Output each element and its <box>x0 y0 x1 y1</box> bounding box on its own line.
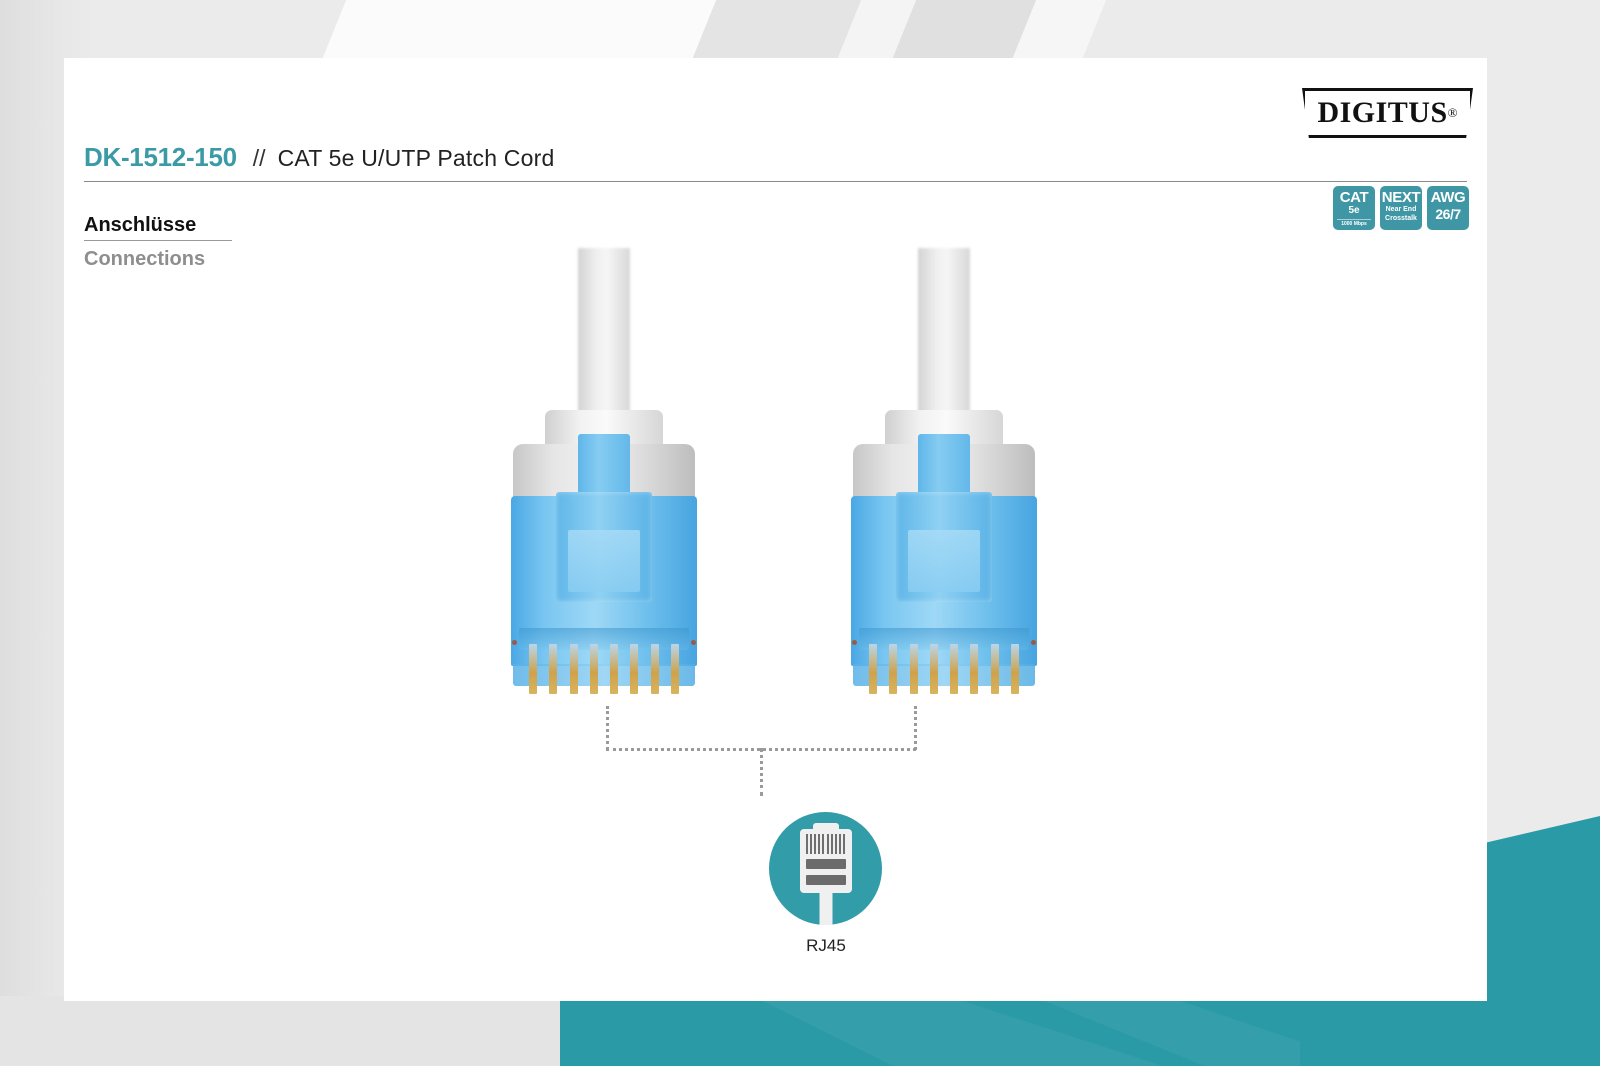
connector-notch-left <box>470 548 496 592</box>
rj45-connector-right <box>794 248 1094 728</box>
product-photo <box>394 248 1154 728</box>
next-badge-line2: Crosstalk <box>1385 215 1417 223</box>
rj45-cord-icon <box>819 891 832 925</box>
cat-badge-speed: 1000 Mbps <box>1337 219 1371 227</box>
connector-marker-left <box>512 640 517 645</box>
rj45-connector-left <box>454 248 754 728</box>
connector-marker-right <box>1031 640 1036 645</box>
awg-badge-main: AWG <box>1431 190 1466 205</box>
connector-notch-right <box>712 548 738 592</box>
next-badge-line1: Near End <box>1386 206 1417 214</box>
section-title-de: Anschlüsse <box>84 214 232 241</box>
product-title-row: DK-1512-150 // CAT 5e U/UTP Patch Cord <box>84 142 1467 182</box>
cable-jacket <box>918 248 970 428</box>
connector-notch-left <box>810 548 836 592</box>
leader-line-right-vertical <box>914 706 917 750</box>
rj45-bar-lower-icon <box>806 875 846 885</box>
title-separator: // <box>253 145 266 172</box>
cable-jacket <box>578 248 630 428</box>
product-name: CAT 5e U/UTP Patch Cord <box>278 145 555 172</box>
next-badge-main: NEXT <box>1382 190 1420 205</box>
section-title-en: Connections <box>84 248 232 271</box>
section-heading: Anschlüsse Connections <box>84 214 232 271</box>
connector-marker-left <box>852 640 857 645</box>
gold-pins <box>529 644 679 694</box>
connector-window <box>908 530 980 592</box>
rj45-contacts-icon <box>806 834 846 854</box>
registered-mark-icon: ® <box>1448 105 1458 121</box>
awg-badge: AWG 26/7 <box>1427 186 1469 230</box>
connector-marker-right <box>691 640 696 645</box>
cat-badge: CAT 5e 1000 Mbps <box>1333 186 1375 230</box>
cat-badge-sub: 5e <box>1348 206 1359 216</box>
rj45-label: RJ45 <box>704 936 948 956</box>
rj45-bar-upper-icon <box>806 859 846 869</box>
callout-leader-lines <box>394 698 1154 828</box>
cat-badge-main: CAT <box>1340 190 1369 205</box>
gold-pins <box>869 644 1019 694</box>
digitus-logo: DIGITUS® <box>1302 88 1473 138</box>
connector-notch-right <box>1052 548 1078 592</box>
connector-window <box>568 530 640 592</box>
product-sku: DK-1512-150 <box>84 142 237 173</box>
leader-line-left-vertical <box>606 706 609 750</box>
awg-badge-value: 26/7 <box>1435 207 1460 221</box>
content-card: DIGITUS® DK-1512-150 // CAT 5e U/UTP Pat… <box>64 58 1487 1001</box>
rj45-icon-circle <box>769 812 882 925</box>
spec-badge-group: CAT 5e 1000 Mbps NEXT Near End Crosstalk… <box>1333 186 1469 230</box>
logo-wordmark: DIGITUS <box>1317 98 1447 128</box>
next-badge: NEXT Near End Crosstalk <box>1380 186 1422 230</box>
leader-line-center-vertical <box>760 748 763 796</box>
